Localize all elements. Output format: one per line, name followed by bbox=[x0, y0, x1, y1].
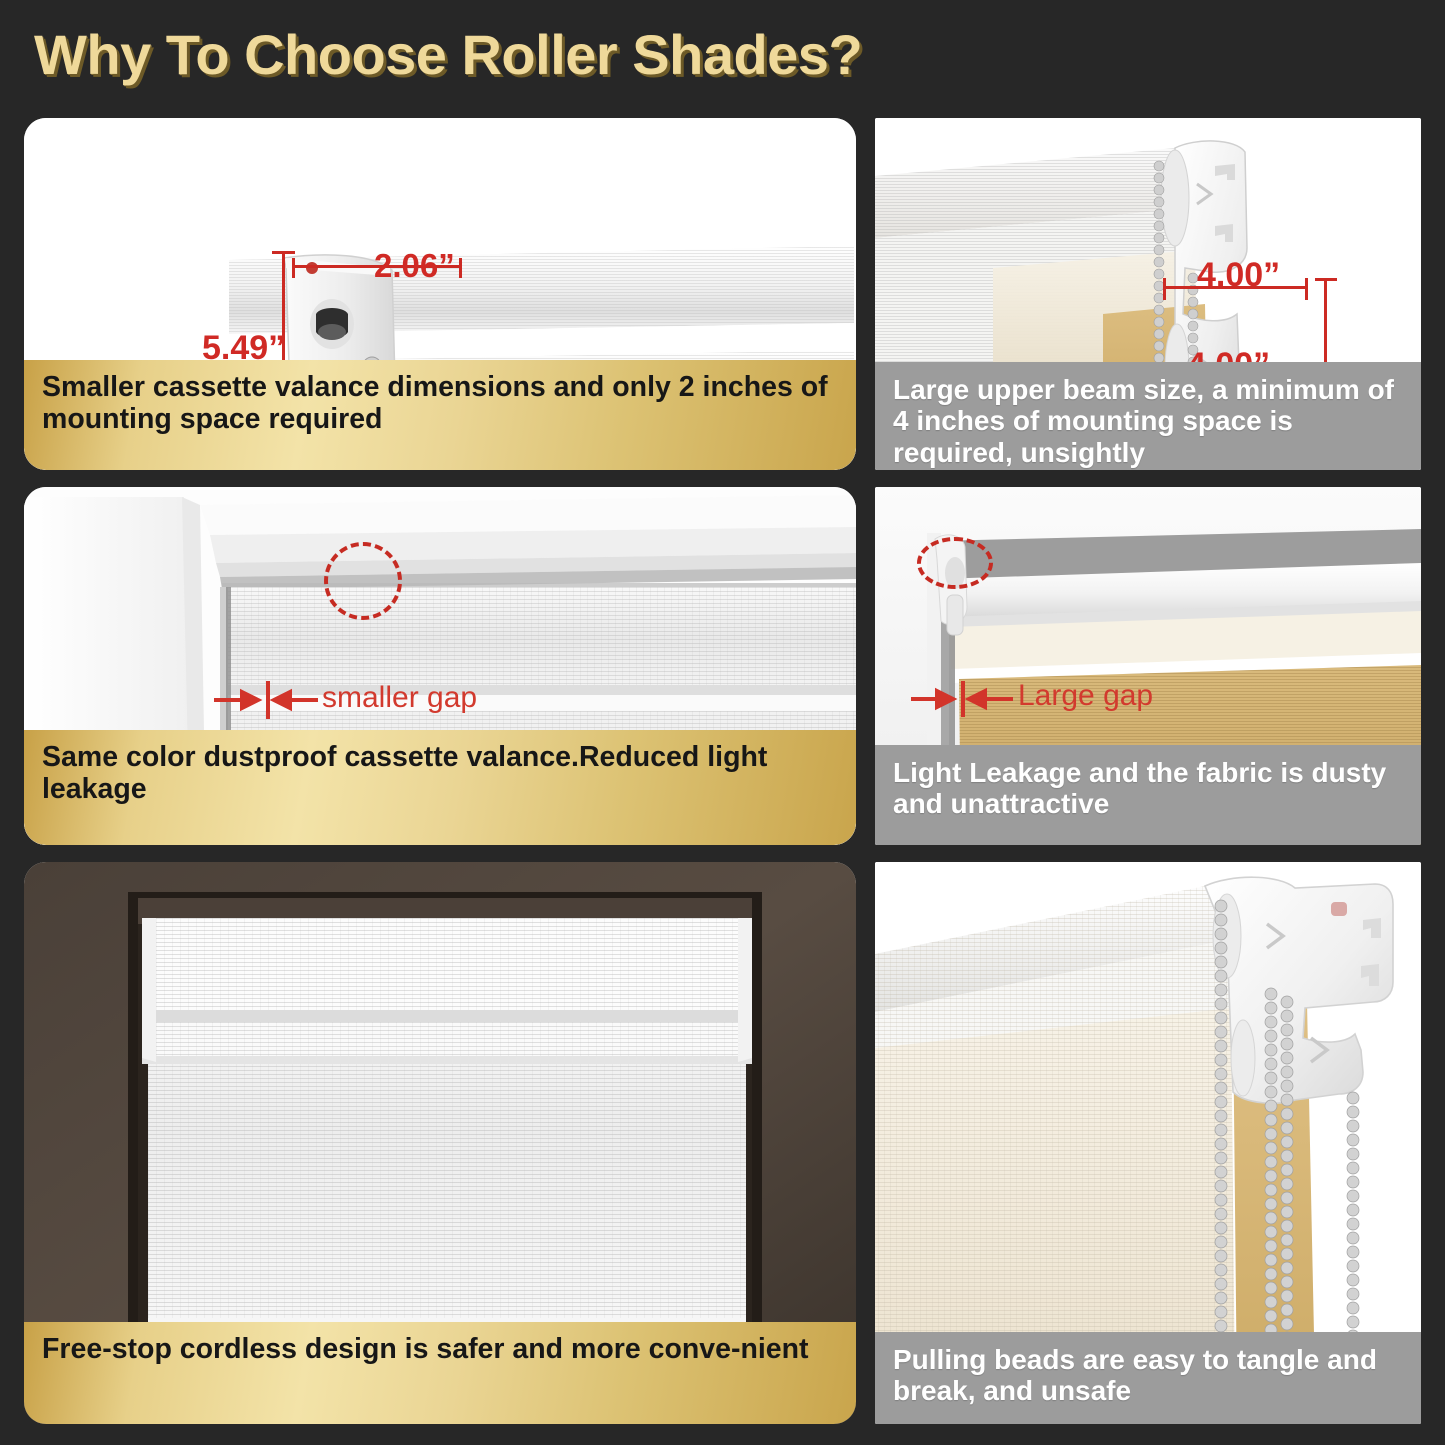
gap-label-panel-3: smaller gap bbox=[322, 681, 477, 715]
infographic-page: Why To Choose Roller Shades? bbox=[0, 0, 1445, 1445]
caption-panel-5-text: Free-stop cordless design is safer and m… bbox=[42, 1334, 809, 1366]
panel-light-leakage: Large gap Light Leakage and the fabric i… bbox=[875, 487, 1421, 845]
width-dimension-tick-right bbox=[459, 258, 462, 278]
caption-panel-4: Light Leakage and the fabric is dusty an… bbox=[875, 745, 1421, 845]
width-dimension-label: 4.00” bbox=[1197, 256, 1280, 295]
caption-panel-3-text: Same color dustproof cassette valance.Re… bbox=[42, 742, 838, 806]
highlight-circle-panel-3 bbox=[324, 542, 402, 620]
height-dimension-tick-top bbox=[272, 251, 295, 254]
panel-cordless-design: Free-stop cordless design is safer and m… bbox=[24, 862, 856, 1424]
width-dimension-label: 2.06” bbox=[374, 247, 455, 285]
height-dimension-tick-top bbox=[1315, 278, 1337, 281]
caption-panel-2-text: Large upper beam size, a minimum of 4 in… bbox=[893, 374, 1403, 468]
caption-panel-1: Smaller cassette valance dimensions and … bbox=[24, 360, 856, 470]
width-dimension-tick-left bbox=[1163, 278, 1166, 300]
panel-pulling-beads: Pulling beads are easy to tangle and bre… bbox=[875, 862, 1421, 1424]
caption-panel-6: Pulling beads are easy to tangle and bre… bbox=[875, 1332, 1421, 1424]
gap-label-panel-4: Large gap bbox=[1018, 679, 1153, 713]
panel-large-beam: 4.00” 4.00” Large upper beam size, a min… bbox=[875, 118, 1421, 470]
panel-dustproof-valance: smaller gap Same color dustproof cassett… bbox=[24, 487, 856, 845]
highlight-circle-panel-4 bbox=[917, 537, 993, 589]
page-title: Why To Choose Roller Shades? bbox=[34, 22, 862, 87]
caption-panel-3: Same color dustproof cassette valance.Re… bbox=[24, 730, 856, 845]
caption-panel-1-text: Smaller cassette valance dimensions and … bbox=[42, 372, 838, 436]
caption-panel-6-text: Pulling beads are easy to tangle and bre… bbox=[893, 1344, 1403, 1407]
panel-cassette-dimensions: 5.49” 2.06” Smaller cassette valance dim… bbox=[24, 118, 856, 470]
width-dimension-tick-right bbox=[1305, 278, 1308, 300]
width-dimension-tick-left bbox=[292, 258, 295, 278]
caption-panel-2: Large upper beam size, a minimum of 4 in… bbox=[875, 362, 1421, 470]
caption-panel-4-text: Light Leakage and the fabric is dusty an… bbox=[893, 757, 1403, 820]
caption-panel-5: Free-stop cordless design is safer and m… bbox=[24, 1322, 856, 1424]
